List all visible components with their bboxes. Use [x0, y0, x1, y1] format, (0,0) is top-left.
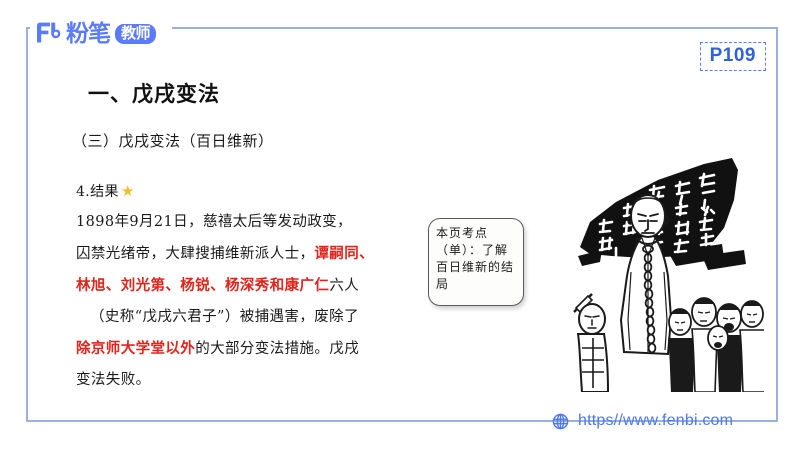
page-title: 一、戊戌变法 — [88, 78, 220, 108]
page-number-badge: P109 — [700, 42, 766, 71]
body-text: 变法失败。 — [76, 372, 151, 388]
result-heading: 4.结果★ — [76, 176, 426, 207]
highlighted-text: 林旭、刘光第、杨锐、杨深秀和康广仁 — [76, 277, 329, 294]
highlighted-text: 谭嗣同、 — [314, 245, 374, 262]
body-text: 六人 — [329, 278, 359, 294]
exam-point-callout: 本页考点（单）：了解百日维新的结局 — [428, 218, 524, 306]
body-text: 囚禁光绪帝，大肆搜捕维新派人士， — [76, 246, 314, 262]
body-line: 囚禁光绪帝，大肆搜捕维新派人士，谭嗣同、 — [76, 238, 426, 270]
body-line: 1898年9月21日，慈禧太后等发动政变， — [76, 207, 426, 238]
body-text: 1898年9月21日，慈禧太后等发动政变， — [76, 214, 352, 230]
body-text-block: 4.结果★ 1898年9月21日，慈禧太后等发动政变，囚禁光绪帝，大肆搜捕维新派… — [76, 176, 426, 396]
body-line: 除京师大学堂以外的大部分变法措施。戊戌 — [76, 333, 426, 365]
site-footer: https//www.fenbi.com — [552, 412, 733, 430]
star-icon: ★ — [121, 182, 135, 200]
body-text: 的大部分变法措施。戊戌 — [195, 341, 359, 357]
body-line: 林旭、刘光第、杨锐、杨深秀和康广仁六人 — [76, 270, 426, 302]
site-url: https//www.fenbi.com — [578, 412, 733, 430]
body-line: 变法失败。 — [76, 365, 426, 396]
section-subtitle: （三）戊戌变法（百日维新） — [72, 130, 274, 151]
brand-teacher-badge: 教师 — [115, 24, 156, 44]
brand-logo: 粉笔 教师 — [34, 17, 156, 51]
body-text: （史称“戊戌六君子”）被捕遇害，废除了 — [90, 309, 359, 325]
result-heading-label: 4.结果 — [76, 184, 119, 200]
tan-sitong-execution-illustration — [572, 152, 764, 392]
globe-icon — [552, 413, 569, 430]
fb-logo-icon — [34, 21, 61, 47]
body-paragraph: 1898年9月21日，慈禧太后等发动政变，囚禁光绪帝，大肆搜捕维新派人士，谭嗣同… — [76, 207, 426, 396]
highlighted-text: 除京师大学堂以外 — [76, 340, 195, 357]
body-line: （史称“戊戌六君子”）被捕遇害，废除了 — [76, 302, 426, 333]
exam-point-text: 本页考点（单）：了解百日维新的结局 — [436, 225, 516, 293]
brand-name: 粉笔 — [66, 23, 110, 46]
